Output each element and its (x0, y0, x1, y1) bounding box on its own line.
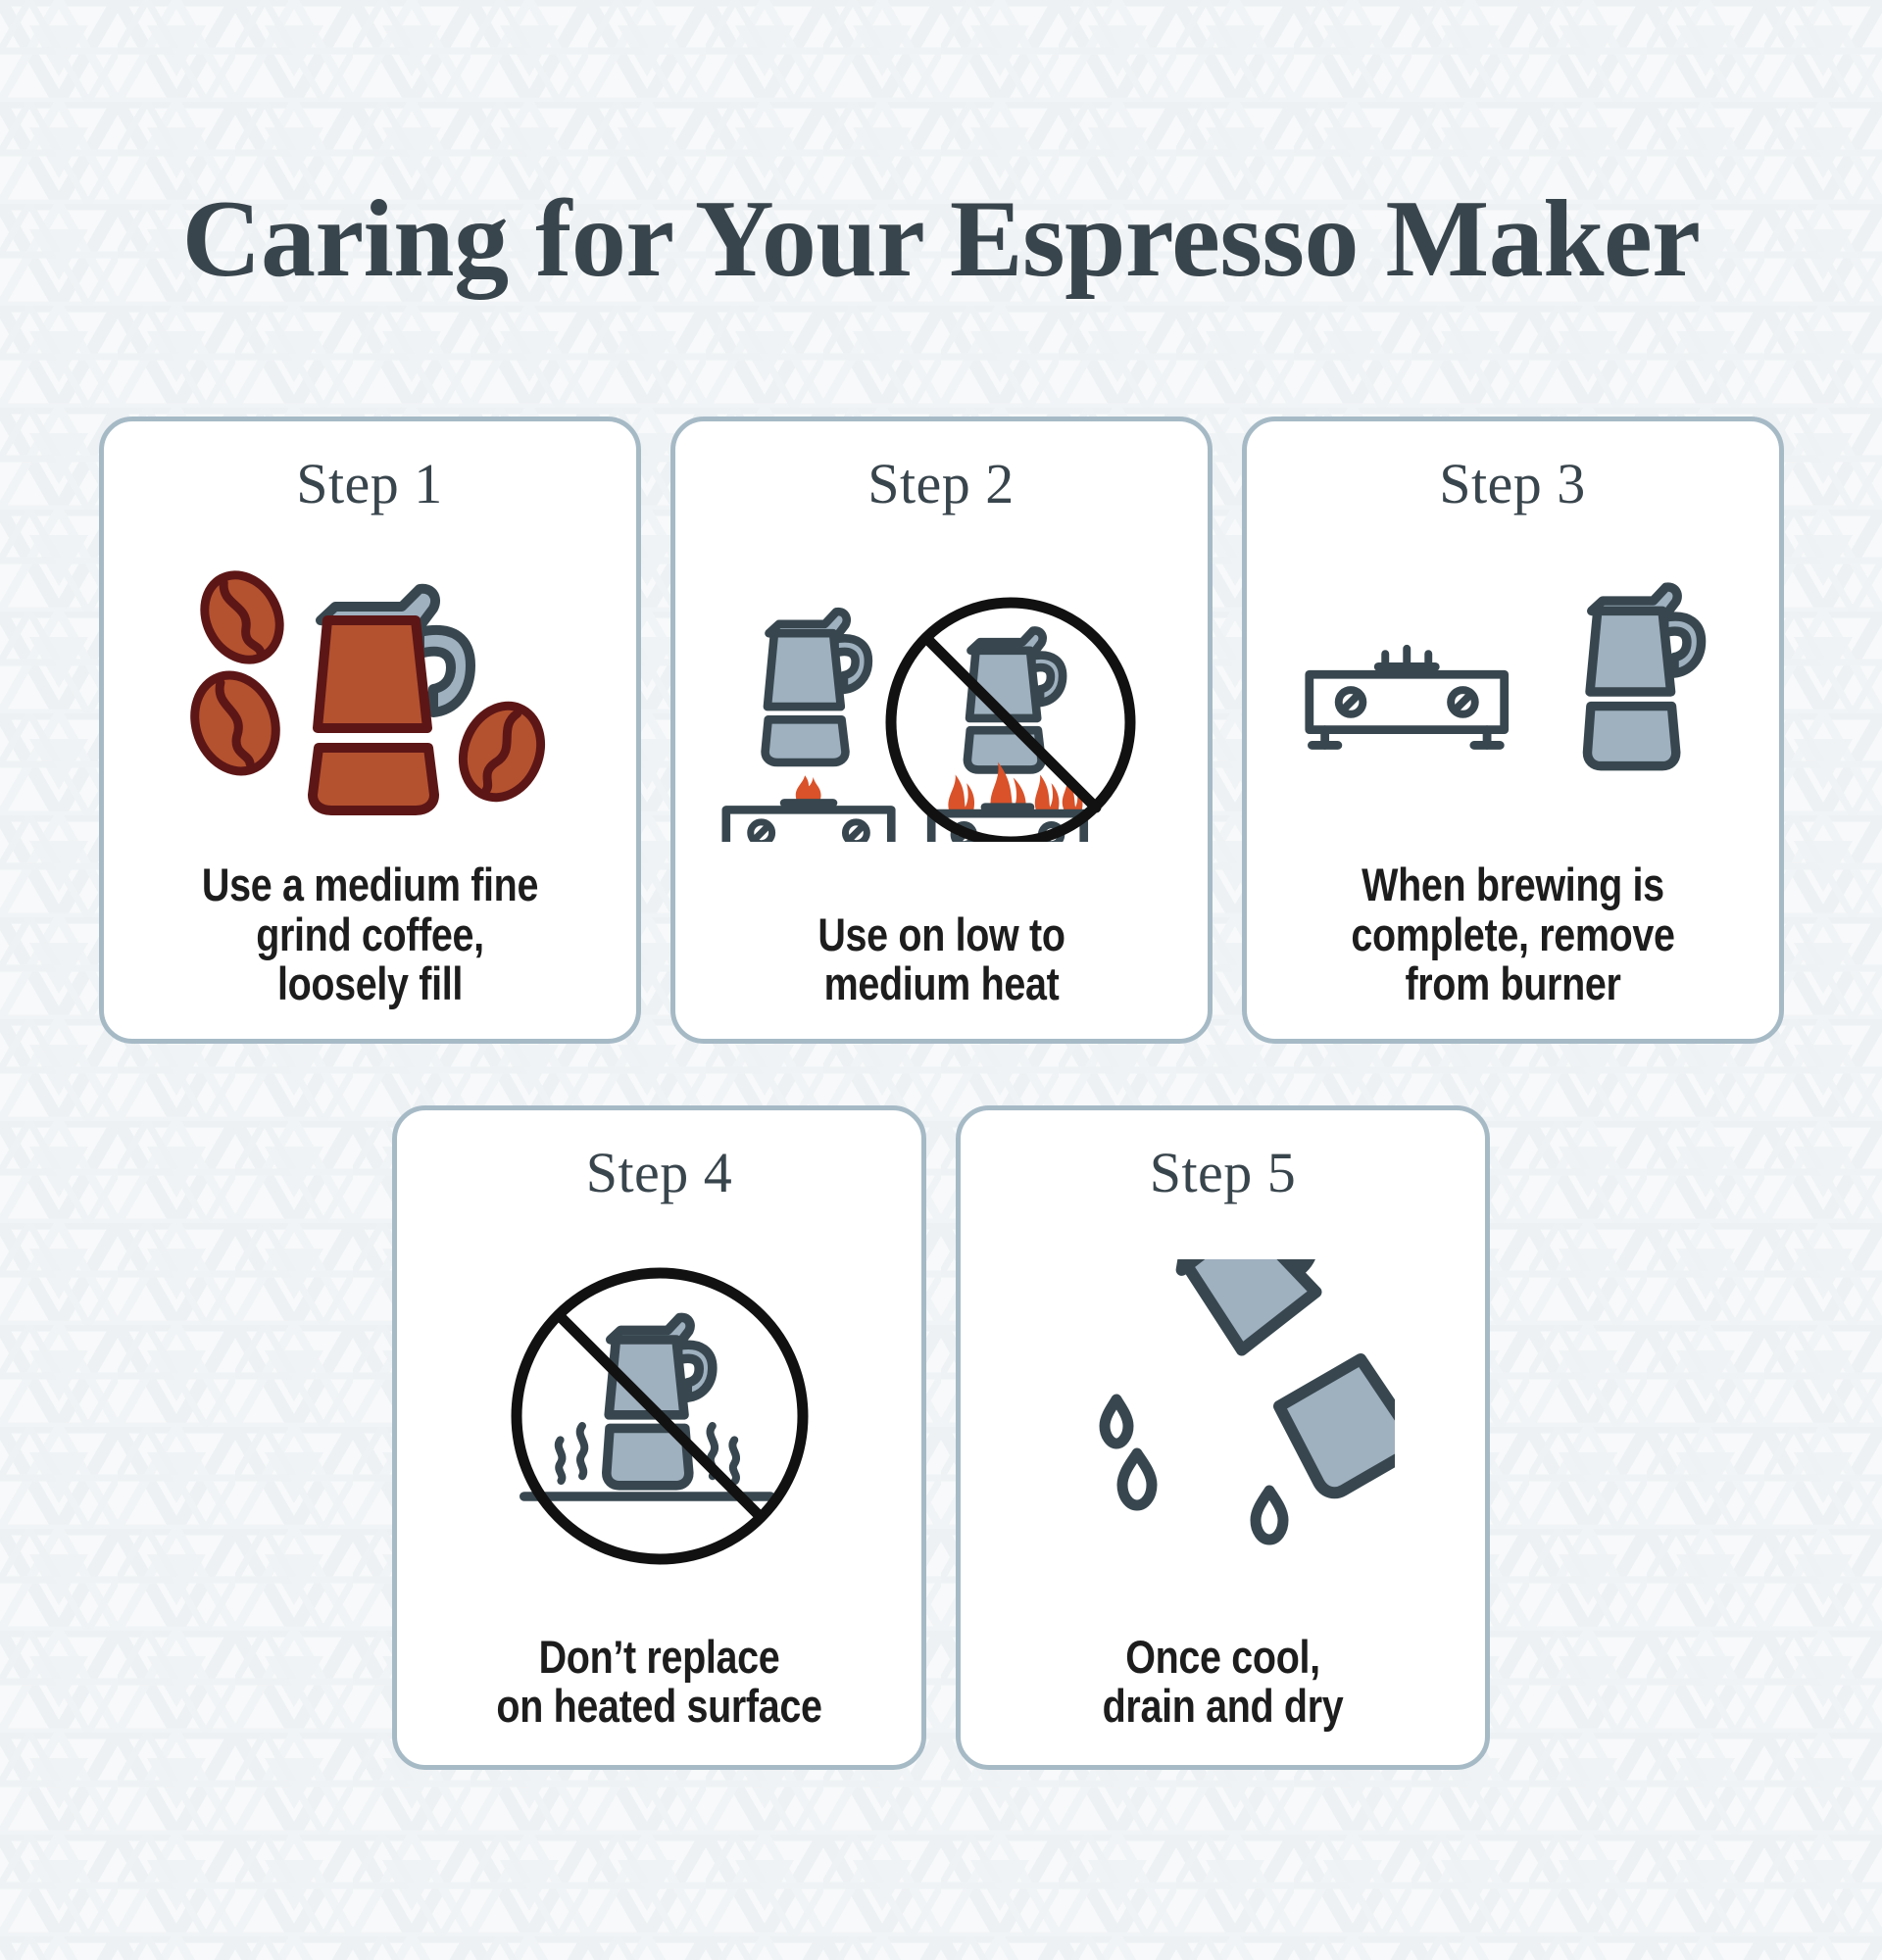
step-caption-1: Use a medium fine grind coffee, loosely … (146, 860, 593, 1039)
step-caption-5: Once cool, drain and dry (1003, 1633, 1443, 1766)
step-caption-3: When brewing is complete, remove from bu… (1289, 860, 1736, 1039)
page-title: Caring for Your Espresso Maker (0, 182, 1882, 298)
step-label-5: Step 5 (1150, 1140, 1297, 1205)
step-card-5[interactable]: Step 5 (956, 1105, 1490, 1770)
step-illustration-3 (1247, 516, 1779, 860)
moka-pot-draining-drops-icon (1052, 1259, 1395, 1583)
step-card-4[interactable]: Step 4 (392, 1105, 926, 1770)
step-label-2: Step 2 (867, 451, 1015, 516)
moka-pot-removed-from-burner-icon (1297, 575, 1728, 806)
step-illustration-5 (961, 1205, 1485, 1633)
step-card-2[interactable]: Step 2 (670, 416, 1213, 1044)
page-title-container: Caring for Your Espresso Maker (0, 182, 1882, 298)
step-label-1: Step 1 (296, 451, 443, 516)
steps-row-bottom: Step 4 (0, 1105, 1882, 1770)
steps-row-top: Step 1 (0, 416, 1882, 1044)
step-caption-2: Use on low to medium heat (718, 910, 1164, 1040)
step-illustration-2 (675, 516, 1208, 910)
moka-pot-on-low-flame-stove-and-prohibited-high-flame-icon (711, 589, 1171, 842)
moka-pot-with-coffee-beans-icon (188, 563, 551, 816)
prohibited-hot-surface-moka-pot-icon (498, 1259, 821, 1583)
water-drop-icon (1105, 1399, 1283, 1540)
step-label-4: Step 4 (586, 1140, 733, 1205)
step-card-3[interactable]: Step 3 (1242, 416, 1784, 1044)
step-card-1[interactable]: Step 1 (99, 416, 641, 1044)
step-caption-4: Don’t replace on heated surface (439, 1633, 879, 1766)
step-illustration-4 (397, 1205, 921, 1633)
step-label-3: Step 3 (1439, 451, 1586, 516)
step-illustration-1 (104, 516, 636, 860)
